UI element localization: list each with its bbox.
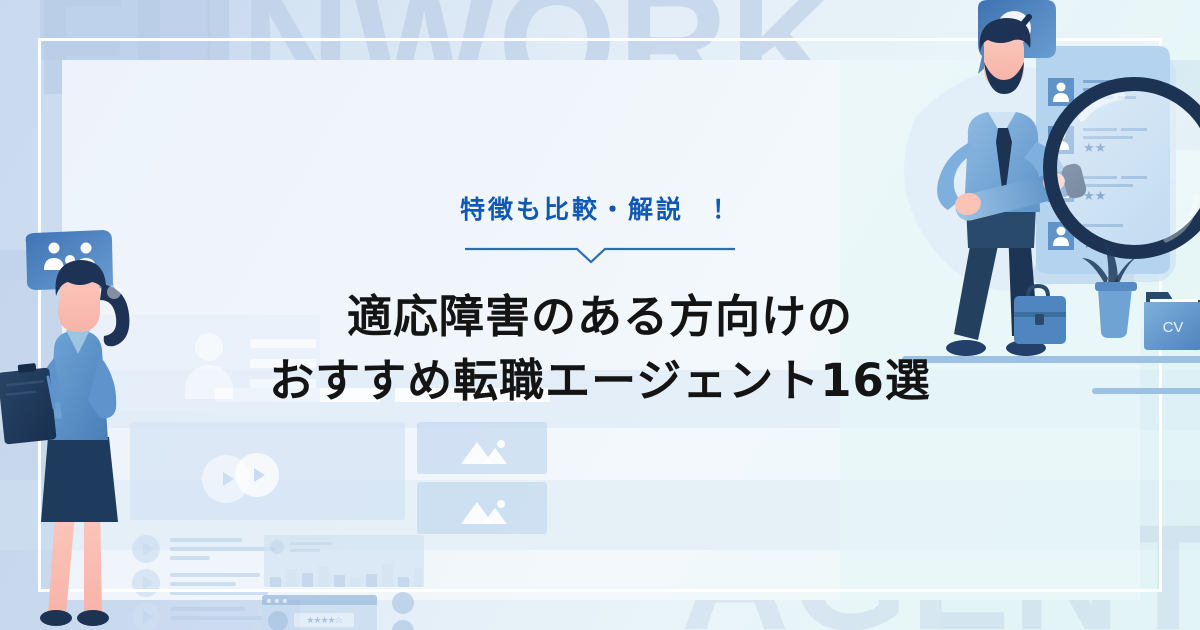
subtitle: 特徴も比較・解説 ！ — [0, 190, 1200, 226]
divider-ornament — [465, 242, 735, 266]
mock-review-card: ★★★★☆ — [262, 595, 377, 630]
headline-block: 特徴も比較・解説 ！ 適応障害のある方向けの おすすめ転職エージェント16選 — [0, 190, 1200, 413]
banner-canvas: FUNWORK AGENT — [0, 0, 1200, 630]
image-icon — [455, 496, 511, 526]
play-icon — [202, 455, 250, 503]
image-icon — [455, 436, 511, 466]
mock-bar-chart — [264, 535, 424, 587]
page-title: 適応障害のある方向けの おすすめ転職エージェント16選 — [0, 285, 1200, 413]
chart-bars — [264, 557, 424, 587]
mock-avatar-stack — [392, 592, 414, 630]
